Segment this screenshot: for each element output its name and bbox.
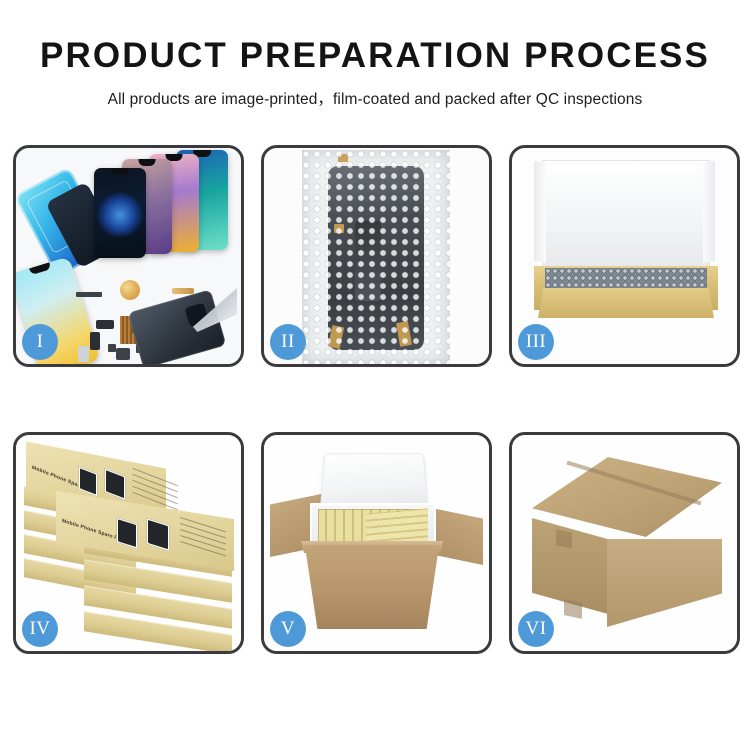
process-step-2[interactable]: II xyxy=(261,145,492,367)
phone-blue-screen xyxy=(94,168,146,258)
step-badge-6: VI xyxy=(518,611,554,647)
label-window xyxy=(146,517,170,552)
step-badge-5: V xyxy=(270,611,306,647)
label-window xyxy=(78,466,98,498)
white-box-lid xyxy=(542,160,710,270)
part-copper-shield xyxy=(120,280,140,300)
step-badge-4: IV xyxy=(22,611,58,647)
kraft-box-front-panel xyxy=(538,288,714,318)
part-sim-tray xyxy=(78,346,89,362)
process-step-4[interactable]: Mobile Phone Spare Parts Mobile Phone Sp… xyxy=(13,432,244,654)
page-subtitle: All products are image-printed，film-coat… xyxy=(0,87,750,109)
lcd-screen-assembly xyxy=(328,166,424,350)
step-badge-3: III xyxy=(518,324,554,360)
process-step-3[interactable]: III xyxy=(509,145,740,367)
process-step-5[interactable]: V xyxy=(261,432,492,654)
step-badge-2: II xyxy=(270,324,306,360)
page-title: PRODUCT PREPARATION PROCESS xyxy=(0,38,750,73)
adhesive-tab xyxy=(334,224,344,233)
process-step-6[interactable]: VI xyxy=(509,432,740,654)
part-connector xyxy=(76,292,102,297)
label-window xyxy=(104,467,126,501)
label-window xyxy=(116,517,138,550)
page-header: PRODUCT PREPARATION PROCESS All products… xyxy=(0,0,750,109)
adhesive-tab xyxy=(338,154,348,162)
part-flex-cable xyxy=(96,320,114,329)
carton-tape-upper xyxy=(556,529,572,548)
lid-left-flap xyxy=(534,161,546,263)
part-flex-cable xyxy=(90,332,100,350)
phone-notch xyxy=(139,159,156,166)
process-step-grid: I II III xyxy=(13,145,740,654)
outer-carton xyxy=(302,545,442,629)
step-badge-1: I xyxy=(22,324,58,360)
process-step-1[interactable]: I xyxy=(13,145,244,367)
part-gold-flex xyxy=(172,288,194,294)
part-camera-module xyxy=(116,348,130,360)
phone-notch xyxy=(111,168,129,175)
part-screw xyxy=(108,344,116,352)
bubble-wrap-bag xyxy=(302,150,450,364)
lid-right-flap xyxy=(703,161,715,263)
